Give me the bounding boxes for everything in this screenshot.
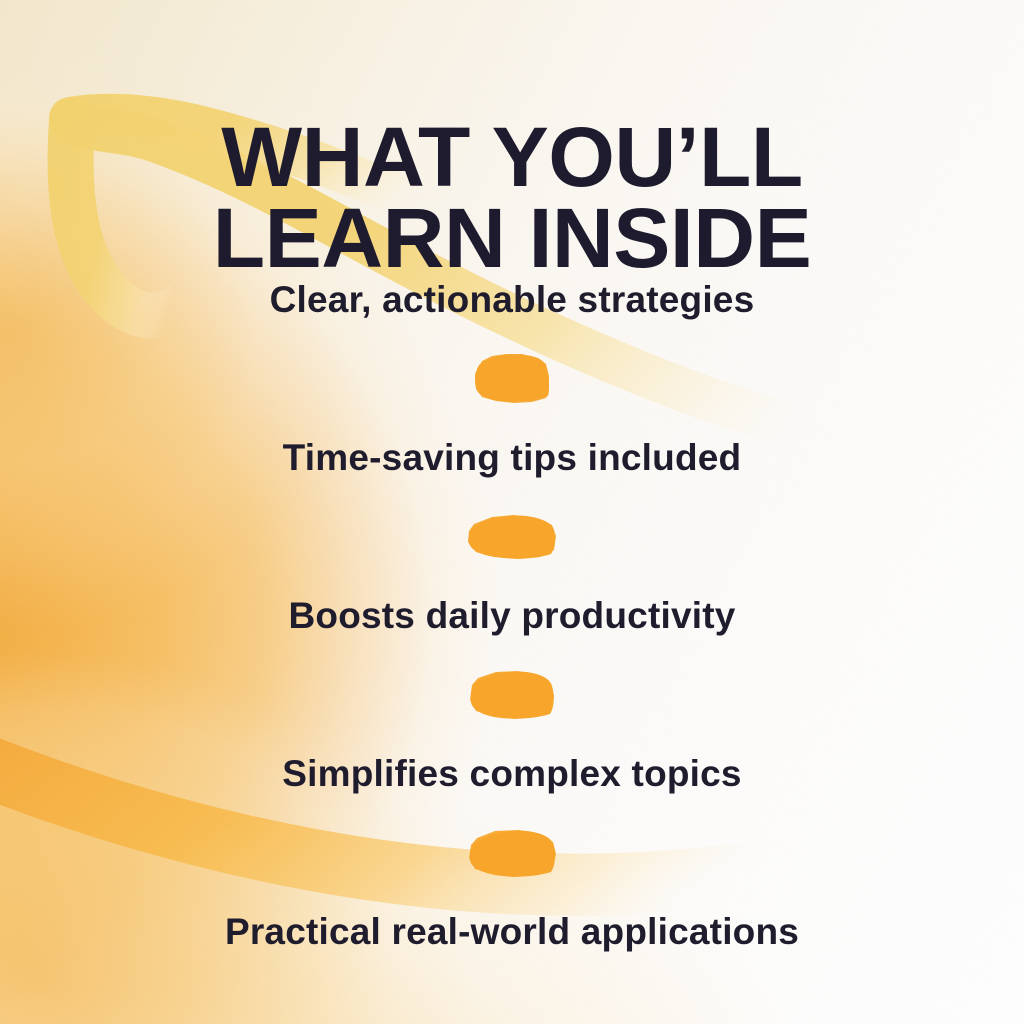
- list-item: Boosts daily productivity: [0, 584, 1024, 646]
- separator-1: [0, 330, 1024, 426]
- benefit-label-1: Clear, actionable strategies: [270, 281, 755, 318]
- separator-3: [0, 646, 1024, 742]
- benefit-label-5: Practical real-world applications: [225, 913, 799, 950]
- brush-stroke-blob-icon: [466, 350, 558, 406]
- benefit-label-3: Boosts daily productivity: [288, 597, 735, 634]
- brush-stroke-blob-icon: [463, 825, 561, 879]
- page-title: WHAT YOU’LL LEARN INSIDE: [0, 118, 1024, 280]
- list-item: Practical real-world applications: [0, 900, 1024, 962]
- brush-stroke-blob-icon: [464, 666, 560, 722]
- poster-canvas: WHAT YOU’LL LEARN INSIDE Clear, actionab…: [0, 0, 1024, 1024]
- separator-2: [0, 488, 1024, 584]
- list-item: Simplifies complex topics: [0, 742, 1024, 804]
- benefit-label-4: Simplifies complex topics: [282, 755, 741, 792]
- brush-stroke-blob-icon: [462, 510, 562, 562]
- benefit-list: Clear, actionable strategies Time-saving…: [0, 268, 1024, 962]
- headline-line-1: WHAT YOU’LL: [0, 118, 1024, 198]
- list-item: Time-saving tips included: [0, 426, 1024, 488]
- list-item: Clear, actionable strategies: [0, 268, 1024, 330]
- separator-4: [0, 804, 1024, 900]
- benefit-label-2: Time-saving tips included: [283, 439, 742, 476]
